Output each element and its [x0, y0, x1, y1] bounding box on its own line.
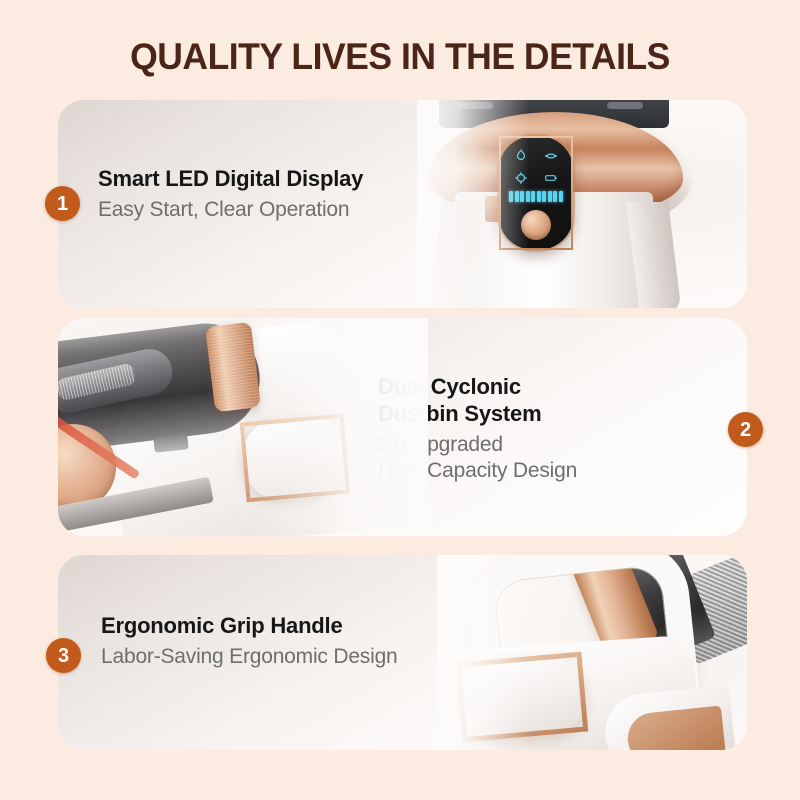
vacuum-led-display-photo — [417, 100, 747, 308]
page-title: QUALITY LIVES IN THE DETAILS — [16, 36, 784, 78]
photo-fade-overlay — [417, 100, 747, 308]
feature-1-title: Smart LED Digital Display — [98, 166, 363, 193]
ergonomic-handle-photo — [437, 555, 747, 750]
cyclonic-dustbin-photo — [58, 318, 428, 536]
feature-3-title: Ergonomic Grip Handle — [101, 613, 398, 640]
feature-1-text: Smart LED Digital Display Easy Start, Cl… — [98, 166, 363, 223]
feature-badge-2: 2 — [728, 412, 763, 447]
feature-card-2: Dual Cyclonic Dustbin System 2.0 Upgrade… — [58, 318, 747, 536]
feature-card-3: Ergonomic Grip Handle Labor-Saving Ergon… — [58, 555, 747, 750]
feature-badge-3: 3 — [46, 638, 81, 673]
feature-1-subtitle: Easy Start, Clear Operation — [98, 197, 363, 223]
feature-badge-1: 1 — [45, 186, 80, 221]
feature-3-subtitle: Labor-Saving Ergonomic Design — [101, 644, 398, 670]
feature-card-1: Smart LED Digital Display Easy Start, Cl… — [58, 100, 747, 308]
photo-fade-overlay — [437, 555, 747, 750]
photo-fade-overlay — [58, 318, 428, 536]
feature-3-text: Ergonomic Grip Handle Labor-Saving Ergon… — [101, 613, 398, 670]
